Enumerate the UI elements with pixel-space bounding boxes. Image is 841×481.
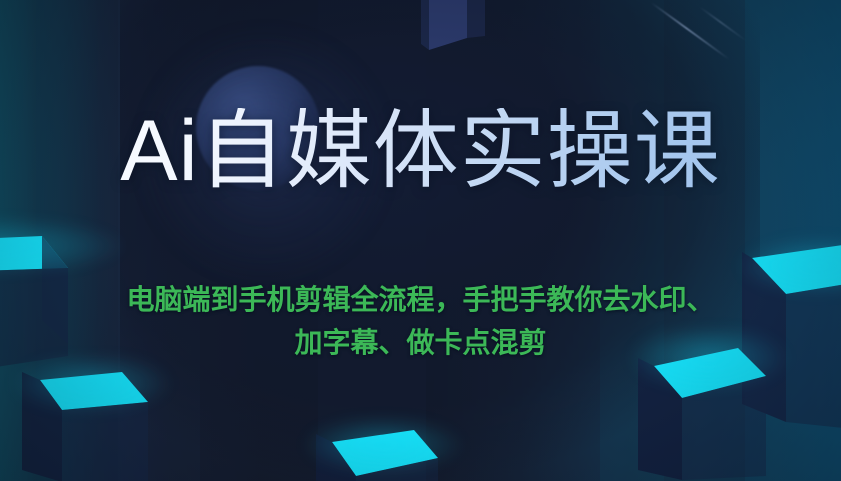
page-subtitle-line-1: 电脑端到手机剪辑全流程，手把手教你去水印、: [61, 278, 781, 321]
decorative-cyan-block-left-mid-glow: [14, 358, 174, 414]
decorative-cyan-block-left-top-glow: [0, 216, 130, 276]
page-title: Ai自媒体实操课: [0, 108, 841, 194]
decorative-navy-cube: [415, 0, 485, 74]
page-subtitle: 电脑端到手机剪辑全流程，手把手教你去水印、 加字幕、做卡点混剪: [61, 278, 781, 365]
decorative-cyan-block-bottom-center-glow: [306, 418, 466, 474]
page-subtitle-line-2: 加字幕、做卡点混剪: [61, 321, 781, 364]
poster-canvas: Ai自媒体实操课 电脑端到手机剪辑全流程，手把手教你去水印、 加字幕、做卡点混剪: [0, 0, 841, 481]
